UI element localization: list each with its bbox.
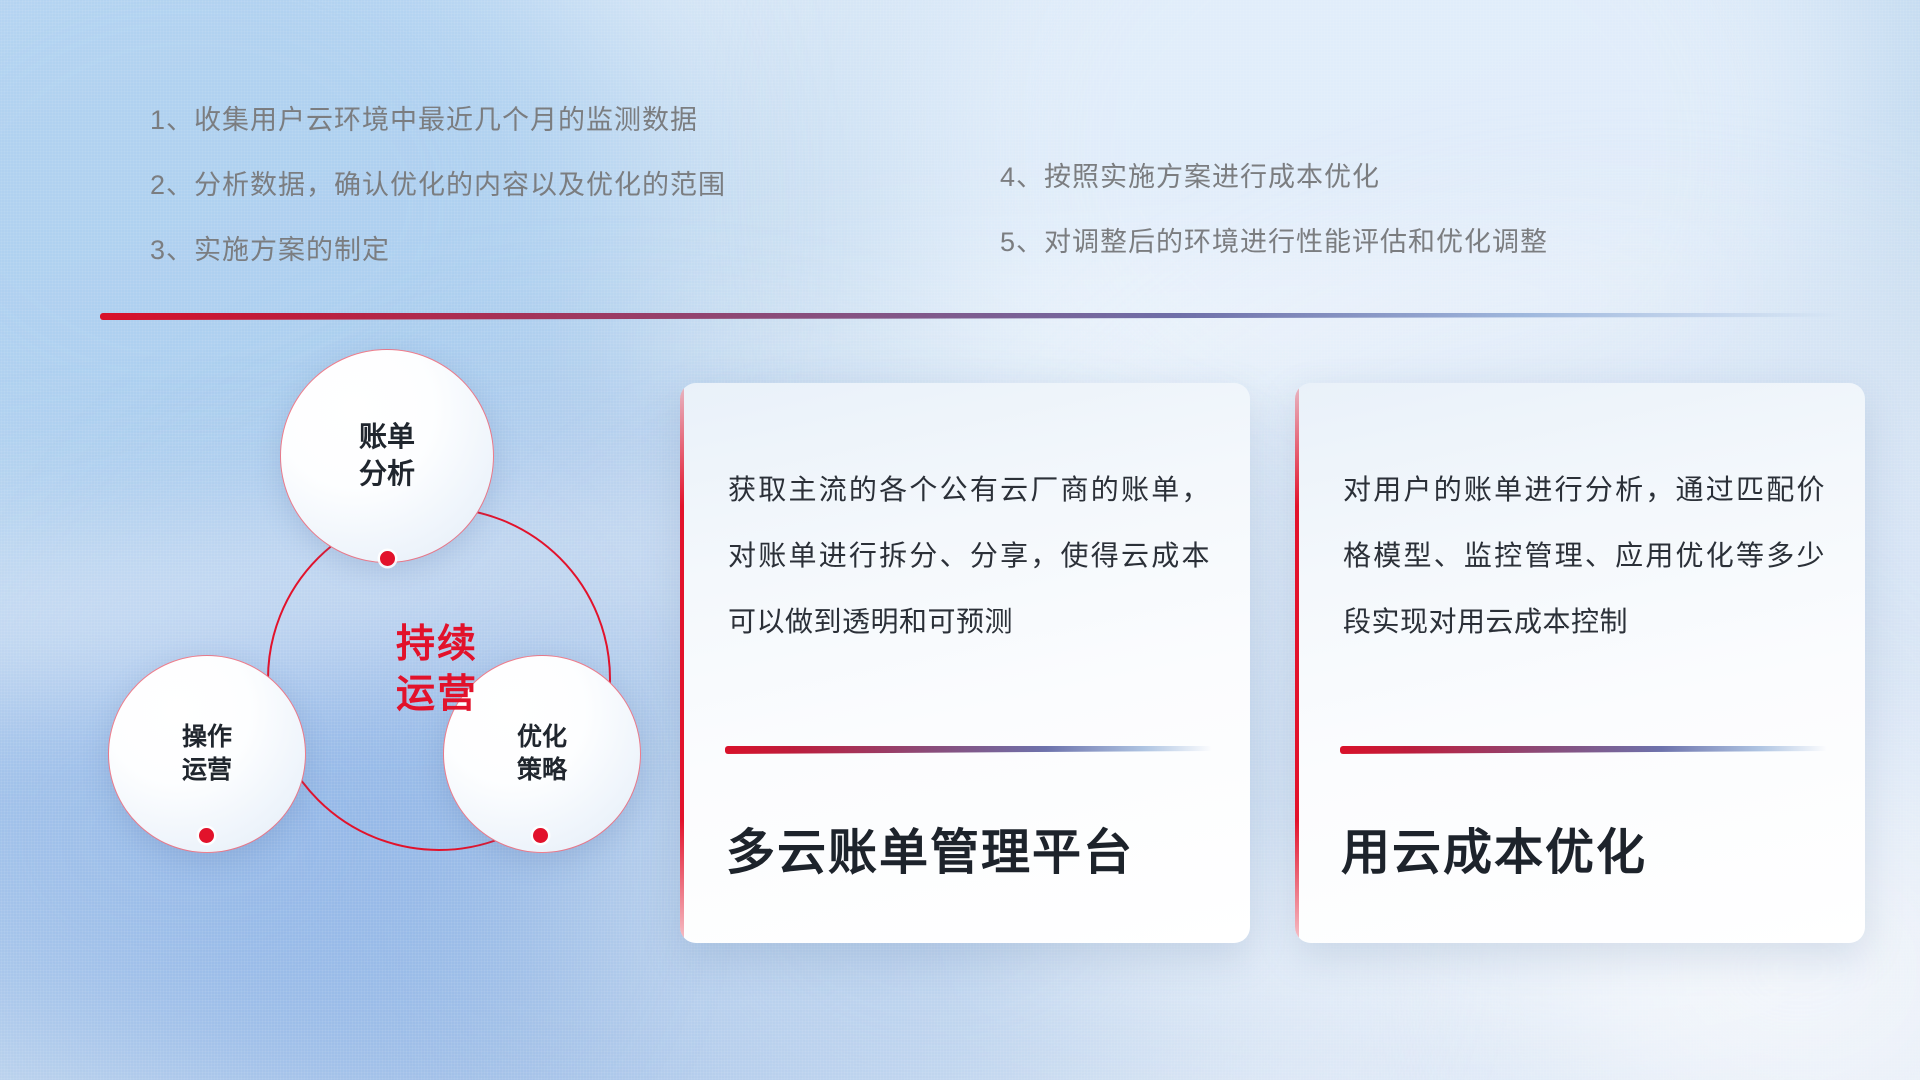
step-item: 3、实施方案的制定: [150, 228, 726, 267]
bubble-label-line2: 分析: [359, 456, 415, 493]
bubble-label-line1: 账单: [359, 419, 415, 456]
diagram-center-label: 持续 运营: [307, 620, 567, 720]
connector-dot-icon: [380, 551, 395, 566]
bubble-label-line1: 操作: [182, 721, 232, 754]
continuous-operation-diagram: 账单 分析 操作 运营 优化 策略 持续 运营: [95, 355, 655, 935]
bubble-bill-analysis[interactable]: 账单 分析: [280, 349, 494, 563]
center-label-line2: 运营: [307, 670, 567, 720]
step-item: 4、按照实施方案进行成本优化: [1000, 155, 1548, 194]
bubble-operation[interactable]: 操作 运营: [108, 655, 306, 853]
card-cloud-cost-optimization[interactable]: 对用户的账单进行分析，通过匹配价格模型、监控管理、应用优化等多少段实现对用云成本…: [1295, 383, 1865, 943]
bubble-label-line2: 策略: [517, 754, 567, 787]
step-item: 5、对调整后的环境进行性能评估和优化调整: [1000, 220, 1548, 259]
step-item: 2、分析数据，确认优化的内容以及优化的范围: [150, 163, 726, 202]
steps-list-right: 4、按照实施方案进行成本优化 5、对调整后的环境进行性能评估和优化调整: [1000, 155, 1548, 285]
card-title: 用云成本优化: [1341, 813, 1831, 884]
bubble-label-line2: 运营: [182, 754, 232, 787]
bubble-label-line1: 优化: [517, 721, 567, 754]
card-divider: [1340, 746, 1827, 754]
card-body-text: 获取主流的各个公有云厂商的账单，对账单进行拆分、分享，使得云成本可以做到透明和可…: [728, 457, 1210, 654]
card-multicloud-bill-platform[interactable]: 获取主流的各个公有云厂商的账单，对账单进行拆分、分享，使得云成本可以做到透明和可…: [680, 383, 1250, 943]
card-divider: [725, 746, 1212, 754]
card-title: 多云账单管理平台: [726, 813, 1216, 884]
step-item: 1、收集用户云环境中最近几个月的监测数据: [150, 98, 726, 137]
card-body-text: 对用户的账单进行分析，通过匹配价格模型、监控管理、应用优化等多少段实现对用云成本…: [1343, 457, 1825, 654]
center-label-line1: 持续: [307, 620, 567, 670]
steps-list-left: 1、收集用户云环境中最近几个月的监测数据 2、分析数据，确认优化的内容以及优化的…: [150, 98, 726, 293]
connector-dot-icon: [533, 828, 548, 843]
connector-dot-icon: [199, 828, 214, 843]
